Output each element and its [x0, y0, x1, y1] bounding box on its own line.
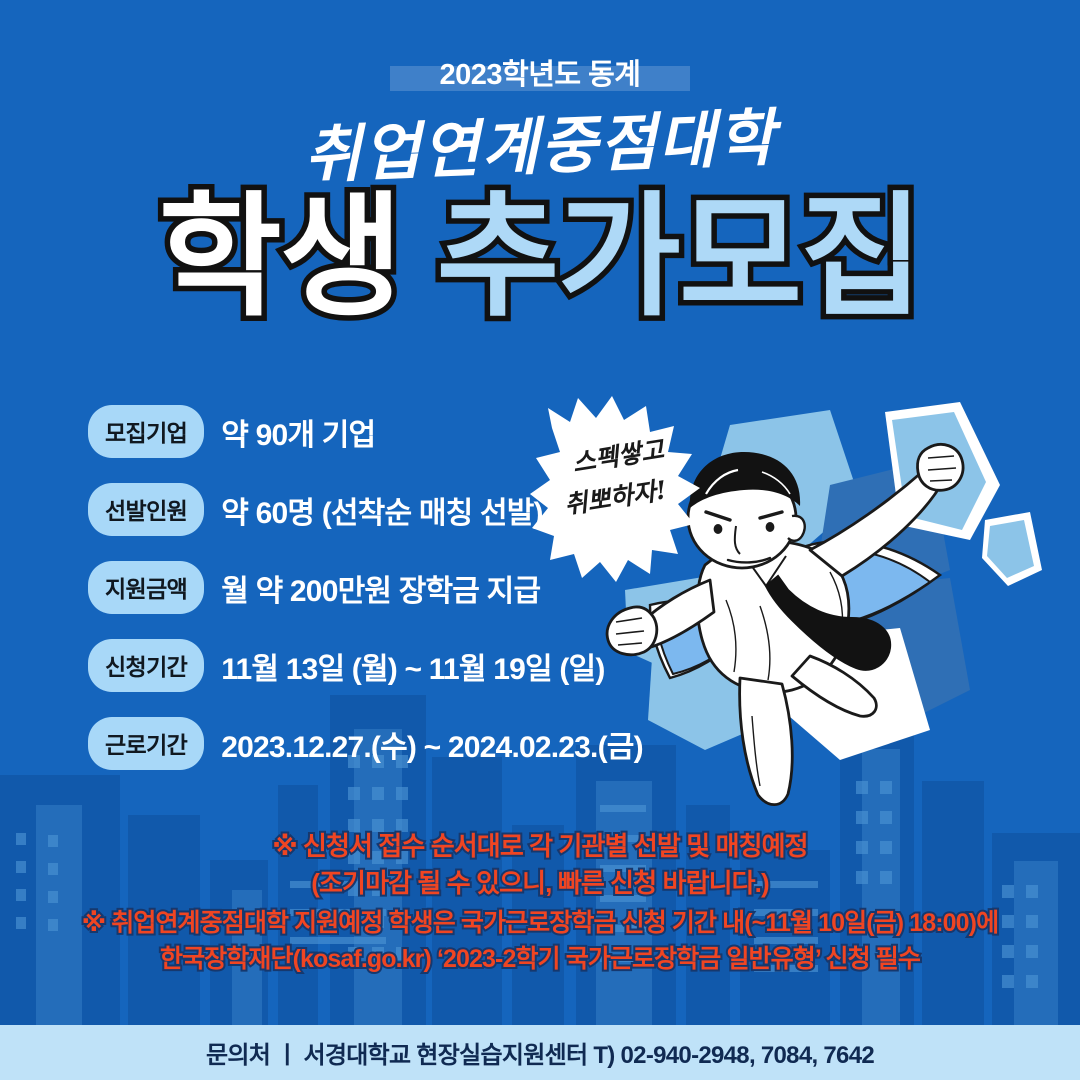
notice-line: ※ 신청서 접수 순서대로 각 기관별 선발 및 매칭예정: [0, 828, 1080, 865]
info-label-pill: 지원금액: [88, 561, 204, 614]
footer-contact-text: 문의처 ㅣ 서경대학교 현장실습지원센터 T) 02-940-2948, 708…: [206, 1035, 874, 1070]
info-label-pill: 선발인원: [88, 483, 204, 536]
eyebrow-label: 2023학년도 동계: [440, 51, 641, 93]
poster-canvas: 2023학년도 동계 취업연계중점대학 학생 추가모집 모집기업 약 90개 기…: [0, 0, 1080, 1080]
page-title: 학생 추가모집: [0, 188, 1080, 329]
headline-part-blue: 추가모집: [401, 183, 921, 332]
info-label-pill: 근로기간: [88, 717, 204, 770]
notice-line: ※ 취업연계중점대학 지원예정 학생은 국가근로장학금 신청 기간 내(~11월…: [0, 906, 1080, 942]
info-value: 약 90개 기업: [221, 410, 375, 454]
footer-contact-bar: 문의처 ㅣ 서경대학교 현장실습지원센터 T) 02-940-2948, 708…: [0, 1025, 1080, 1080]
headline-part-white: 학생: [159, 183, 402, 332]
notice-line: (조기마감 될 수 있으니, 빠른 신청 바랍니다.): [0, 865, 1080, 902]
info-value: 약 60명 (선착순 매칭 선발): [221, 488, 543, 532]
notice-line: 한국장학재단(kosaf.go.kr) ‘2023-2학기 국가근로장학금 일반…: [0, 942, 1080, 978]
notice-block-1: ※ 신청서 접수 순서대로 각 기관별 선발 및 매칭예정 (조기마감 될 수 …: [0, 828, 1080, 902]
info-label-pill: 모집기업: [88, 405, 204, 458]
superhero-illustration: 스펙쌓고 취뽀하자!: [530, 390, 1070, 810]
info-value: 월 약 200만원 장학금 지급: [221, 566, 540, 610]
notice-block-2: ※ 취업연계중점대학 지원예정 학생은 국가근로장학금 신청 기간 내(~11월…: [0, 906, 1080, 977]
info-label-pill: 신청기간: [88, 639, 204, 692]
